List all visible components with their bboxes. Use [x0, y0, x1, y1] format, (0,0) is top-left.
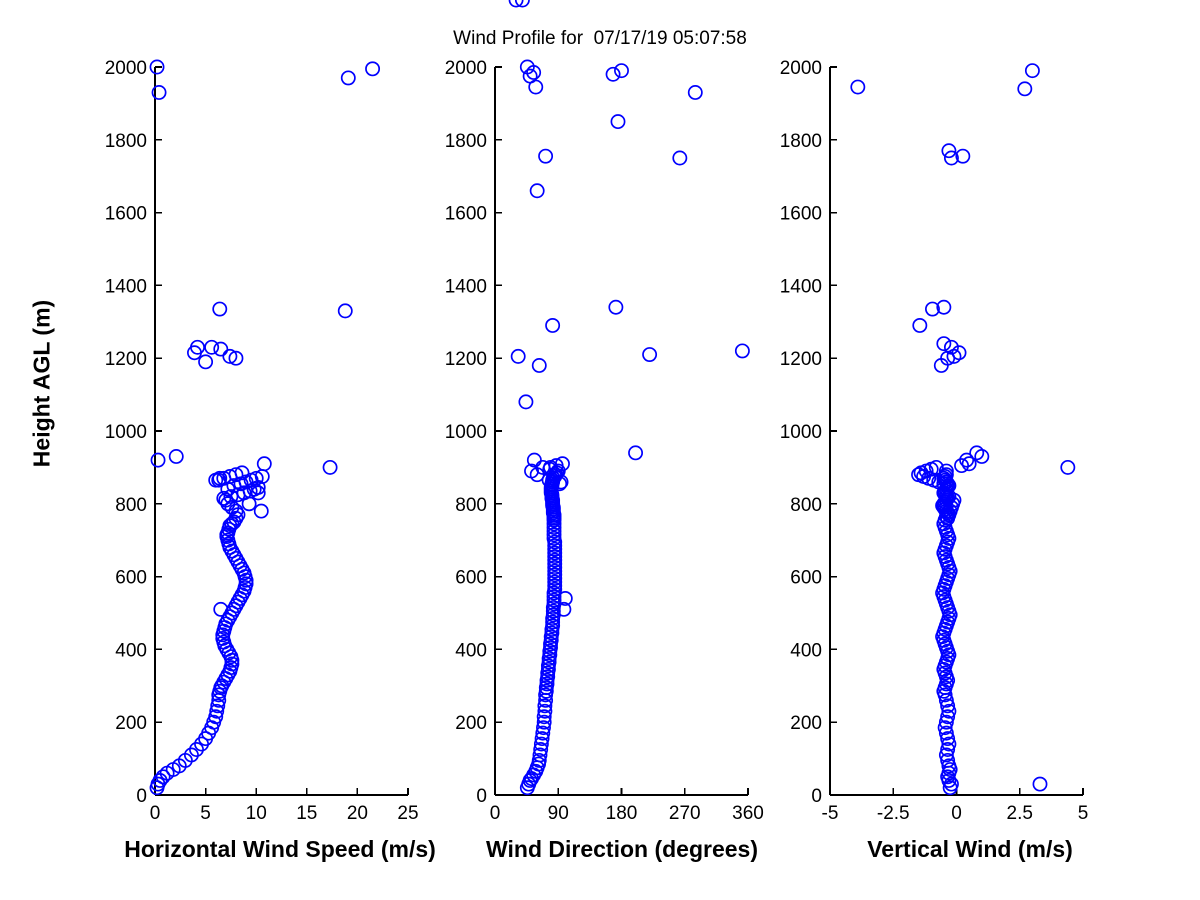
- data-point: [937, 337, 950, 350]
- y-tick-label: 400: [790, 640, 822, 661]
- data-point: [1018, 82, 1031, 95]
- y-tick-label: 2000: [780, 58, 822, 79]
- wind-profile-figure: Wind Profile for 07/17/19 05:07:58 Heigh…: [0, 0, 1200, 900]
- plot-area-vertical-wind-m-s: 0200400600800100012001400160018002000-5-…: [0, 0, 1200, 880]
- data-point: [942, 144, 955, 157]
- y-tick-label: 1200: [780, 349, 822, 370]
- x-axis-label-horizontal-wind-speed: Horizontal Wind Speed (m/s): [90, 836, 470, 863]
- y-tick-label: 200: [790, 713, 822, 734]
- y-tick-label: 1000: [780, 422, 822, 443]
- data-point: [851, 80, 864, 93]
- x-tick-label: -5: [822, 803, 839, 824]
- data-point: [913, 319, 926, 332]
- data-point: [1033, 777, 1046, 790]
- y-tick-label: 1400: [780, 276, 822, 297]
- y-tick-label: 1800: [780, 131, 822, 152]
- y-tick-label: 0: [811, 786, 822, 807]
- x-tick-label: -2.5: [877, 803, 910, 824]
- data-point: [1026, 64, 1039, 77]
- y-tick-label: 600: [790, 568, 822, 589]
- y-tick-label: 1600: [780, 204, 822, 225]
- data-series: [851, 64, 1074, 794]
- y-tick-label: 800: [790, 495, 822, 516]
- panel-vertical-wind: 0200400600800100012001400160018002000-5-…: [0, 0, 1130, 830]
- x-axis-label-vertical-wind: Vertical Wind (m/s): [800, 836, 1140, 863]
- x-tick-label: 5: [1078, 803, 1089, 824]
- x-tick-label: 0: [951, 803, 962, 824]
- x-tick-label: 2.5: [1007, 803, 1033, 824]
- x-axis-label-wind-direction: Wind Direction (degrees): [452, 836, 792, 863]
- data-point: [1061, 461, 1074, 474]
